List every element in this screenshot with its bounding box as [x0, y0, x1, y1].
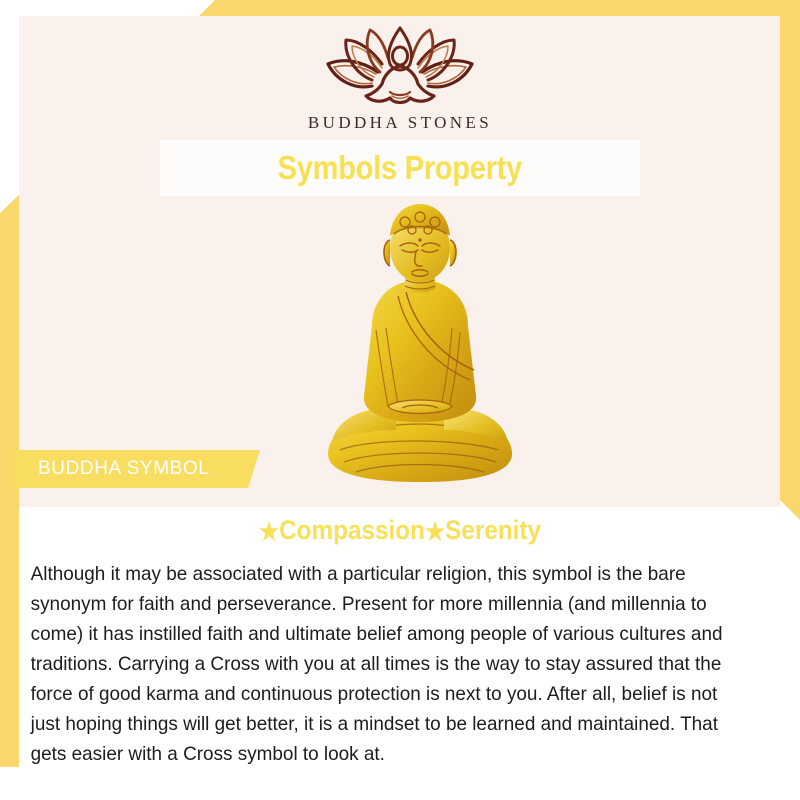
description-paragraph: Although it may be associated with a par…: [19, 547, 758, 769]
golden-buddha-statue: [310, 200, 530, 490]
content-section: ★Compassion★Serenity Although it may be …: [19, 507, 781, 800]
attribute-compassion: Compassion: [279, 515, 425, 545]
page-title: Symbols Property: [278, 149, 522, 187]
buddha-symbol-ribbon: BUDDHA SYMBOL: [10, 450, 260, 488]
brand-logo: BUDDHA STONES: [0, 24, 800, 133]
top-accent-band: [0, 0, 800, 16]
brand-name: BUDDHA STONES: [0, 113, 800, 133]
page-title-band: Symbols Property: [160, 140, 640, 196]
star-icon-2: ★: [425, 518, 445, 546]
ribbon-label: BUDDHA SYMBOL: [10, 458, 209, 480]
attributes-heading: ★Compassion★Serenity: [57, 507, 743, 547]
product-info-banner: BUDDHA STONES Symbols Property: [0, 0, 800, 800]
lotus-meditation-icon: [316, 24, 484, 108]
star-icon-1: ★: [259, 518, 279, 546]
attribute-serenity: Serenity: [445, 515, 541, 545]
